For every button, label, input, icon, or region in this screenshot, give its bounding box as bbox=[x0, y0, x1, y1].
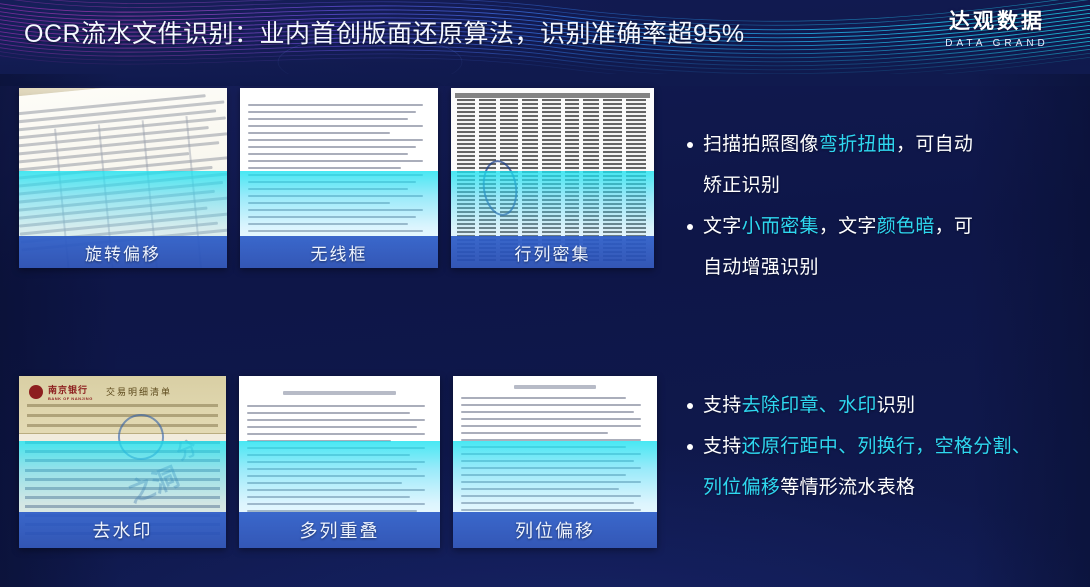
thumbnail-caption: 行列密集 bbox=[451, 236, 654, 268]
plain-text: 识别 bbox=[877, 395, 916, 416]
plain-text: 等情形流水表格 bbox=[780, 477, 915, 498]
bullet-rich-text: 支持去除印章、水印识别 bbox=[703, 395, 915, 416]
highlight-text: 颜色暗 bbox=[877, 216, 935, 237]
plain-text: ，可自动 bbox=[896, 134, 973, 155]
thumbnail-borderless-table[interactable]: 无线框 bbox=[240, 88, 438, 268]
plain-text: 扫描拍照图像 bbox=[703, 134, 819, 155]
thumbnail-row-bottom: 南京银行 BANK OF NANJING 交易明细清单 bbox=[19, 376, 657, 548]
bullet-continuation: 矫正识别 bbox=[703, 165, 1078, 206]
thumbnail-shifted-columns[interactable]: 列位偏移 bbox=[453, 376, 657, 548]
thumbnail-overlapping-columns[interactable]: 多列重叠 bbox=[239, 376, 440, 548]
plain-text: 支持 bbox=[703, 436, 742, 457]
page-title: OCR流水文件识别：业内首创版面还原算法，识别准确率超95% bbox=[24, 17, 745, 51]
thumbnail-remove-watermark[interactable]: 南京银行 BANK OF NANJING 交易明细清单 bbox=[19, 376, 226, 548]
brand-logo: 达观数据 DATA GRAND bbox=[922, 9, 1072, 51]
highlight-text: 列位偏移 bbox=[703, 477, 780, 498]
thumbnail-caption: 多列重叠 bbox=[239, 512, 440, 548]
brand-logo-cn: 达观数据 bbox=[922, 9, 1072, 34]
bullet-rich-text: 扫描拍照图像弯折扭曲，可自动 bbox=[703, 134, 973, 155]
thumbnail-dense-grid[interactable]: 行列密集 bbox=[451, 88, 654, 268]
highlight-text: 去除印章、水印 bbox=[742, 395, 877, 416]
bullet-rich-text: 文字小而密集，文字颜色暗，可 bbox=[703, 216, 973, 237]
thumbnail-caption: 列位偏移 bbox=[453, 512, 657, 548]
bank-seal-icon bbox=[29, 385, 43, 399]
thumbnail-caption: 旋转偏移 bbox=[19, 236, 227, 268]
bullet-continuation: 自动增强识别 bbox=[703, 247, 1078, 288]
highlight-text: 还原行距中、列换行，空格分割、 bbox=[742, 436, 1032, 457]
bank-doc-title: 交易明细清单 bbox=[106, 385, 172, 398]
thumbnail-caption: 去水印 bbox=[19, 512, 226, 548]
thumbnail-row-top: 旋转偏移 bbox=[19, 88, 654, 268]
highlight-text: 弯折扭曲 bbox=[819, 134, 896, 155]
bullet-rich-text: 支持还原行距中、列换行，空格分割、 bbox=[703, 436, 1031, 457]
highlight-text: 小而密集 bbox=[742, 216, 819, 237]
plain-text: 文字 bbox=[703, 216, 742, 237]
bullet-item: 文字小而密集，文字颜色暗，可 自动增强识别 bbox=[686, 206, 1078, 288]
bullet-continuation: 列位偏移等情形流水表格 bbox=[703, 467, 1078, 508]
bullet-item: 扫描拍照图像弯折扭曲，可自动 矫正识别 bbox=[686, 124, 1078, 206]
plain-text: ，文字 bbox=[819, 216, 877, 237]
thumbnail-rotated-offset[interactable]: 旋转偏移 bbox=[19, 88, 227, 268]
thumbnail-caption: 无线框 bbox=[240, 236, 438, 268]
brand-logo-en: DATA GRAND bbox=[922, 36, 1072, 51]
plain-text: 支持 bbox=[703, 395, 742, 416]
plain-text: ，可 bbox=[935, 216, 974, 237]
bullet-item: 支持还原行距中、列换行，空格分割、 列位偏移等情形流水表格 bbox=[686, 426, 1078, 508]
slide-root: OCR流水文件识别：业内首创版面还原算法，识别准确率超95% 达观数据 DATA… bbox=[0, 0, 1090, 587]
bank-name: 南京银行 BANK OF NANJING bbox=[48, 383, 93, 401]
bullet-list-bottom: 支持去除印章、水印识别 支持还原行距中、列换行，空格分割、 列位偏移等情形流水表… bbox=[686, 385, 1078, 508]
bullet-item: 支持去除印章、水印识别 bbox=[686, 385, 1078, 426]
bullet-list-top: 扫描拍照图像弯折扭曲，可自动 矫正识别 文字小而密集，文字颜色暗，可 自动增强识… bbox=[686, 124, 1078, 288]
